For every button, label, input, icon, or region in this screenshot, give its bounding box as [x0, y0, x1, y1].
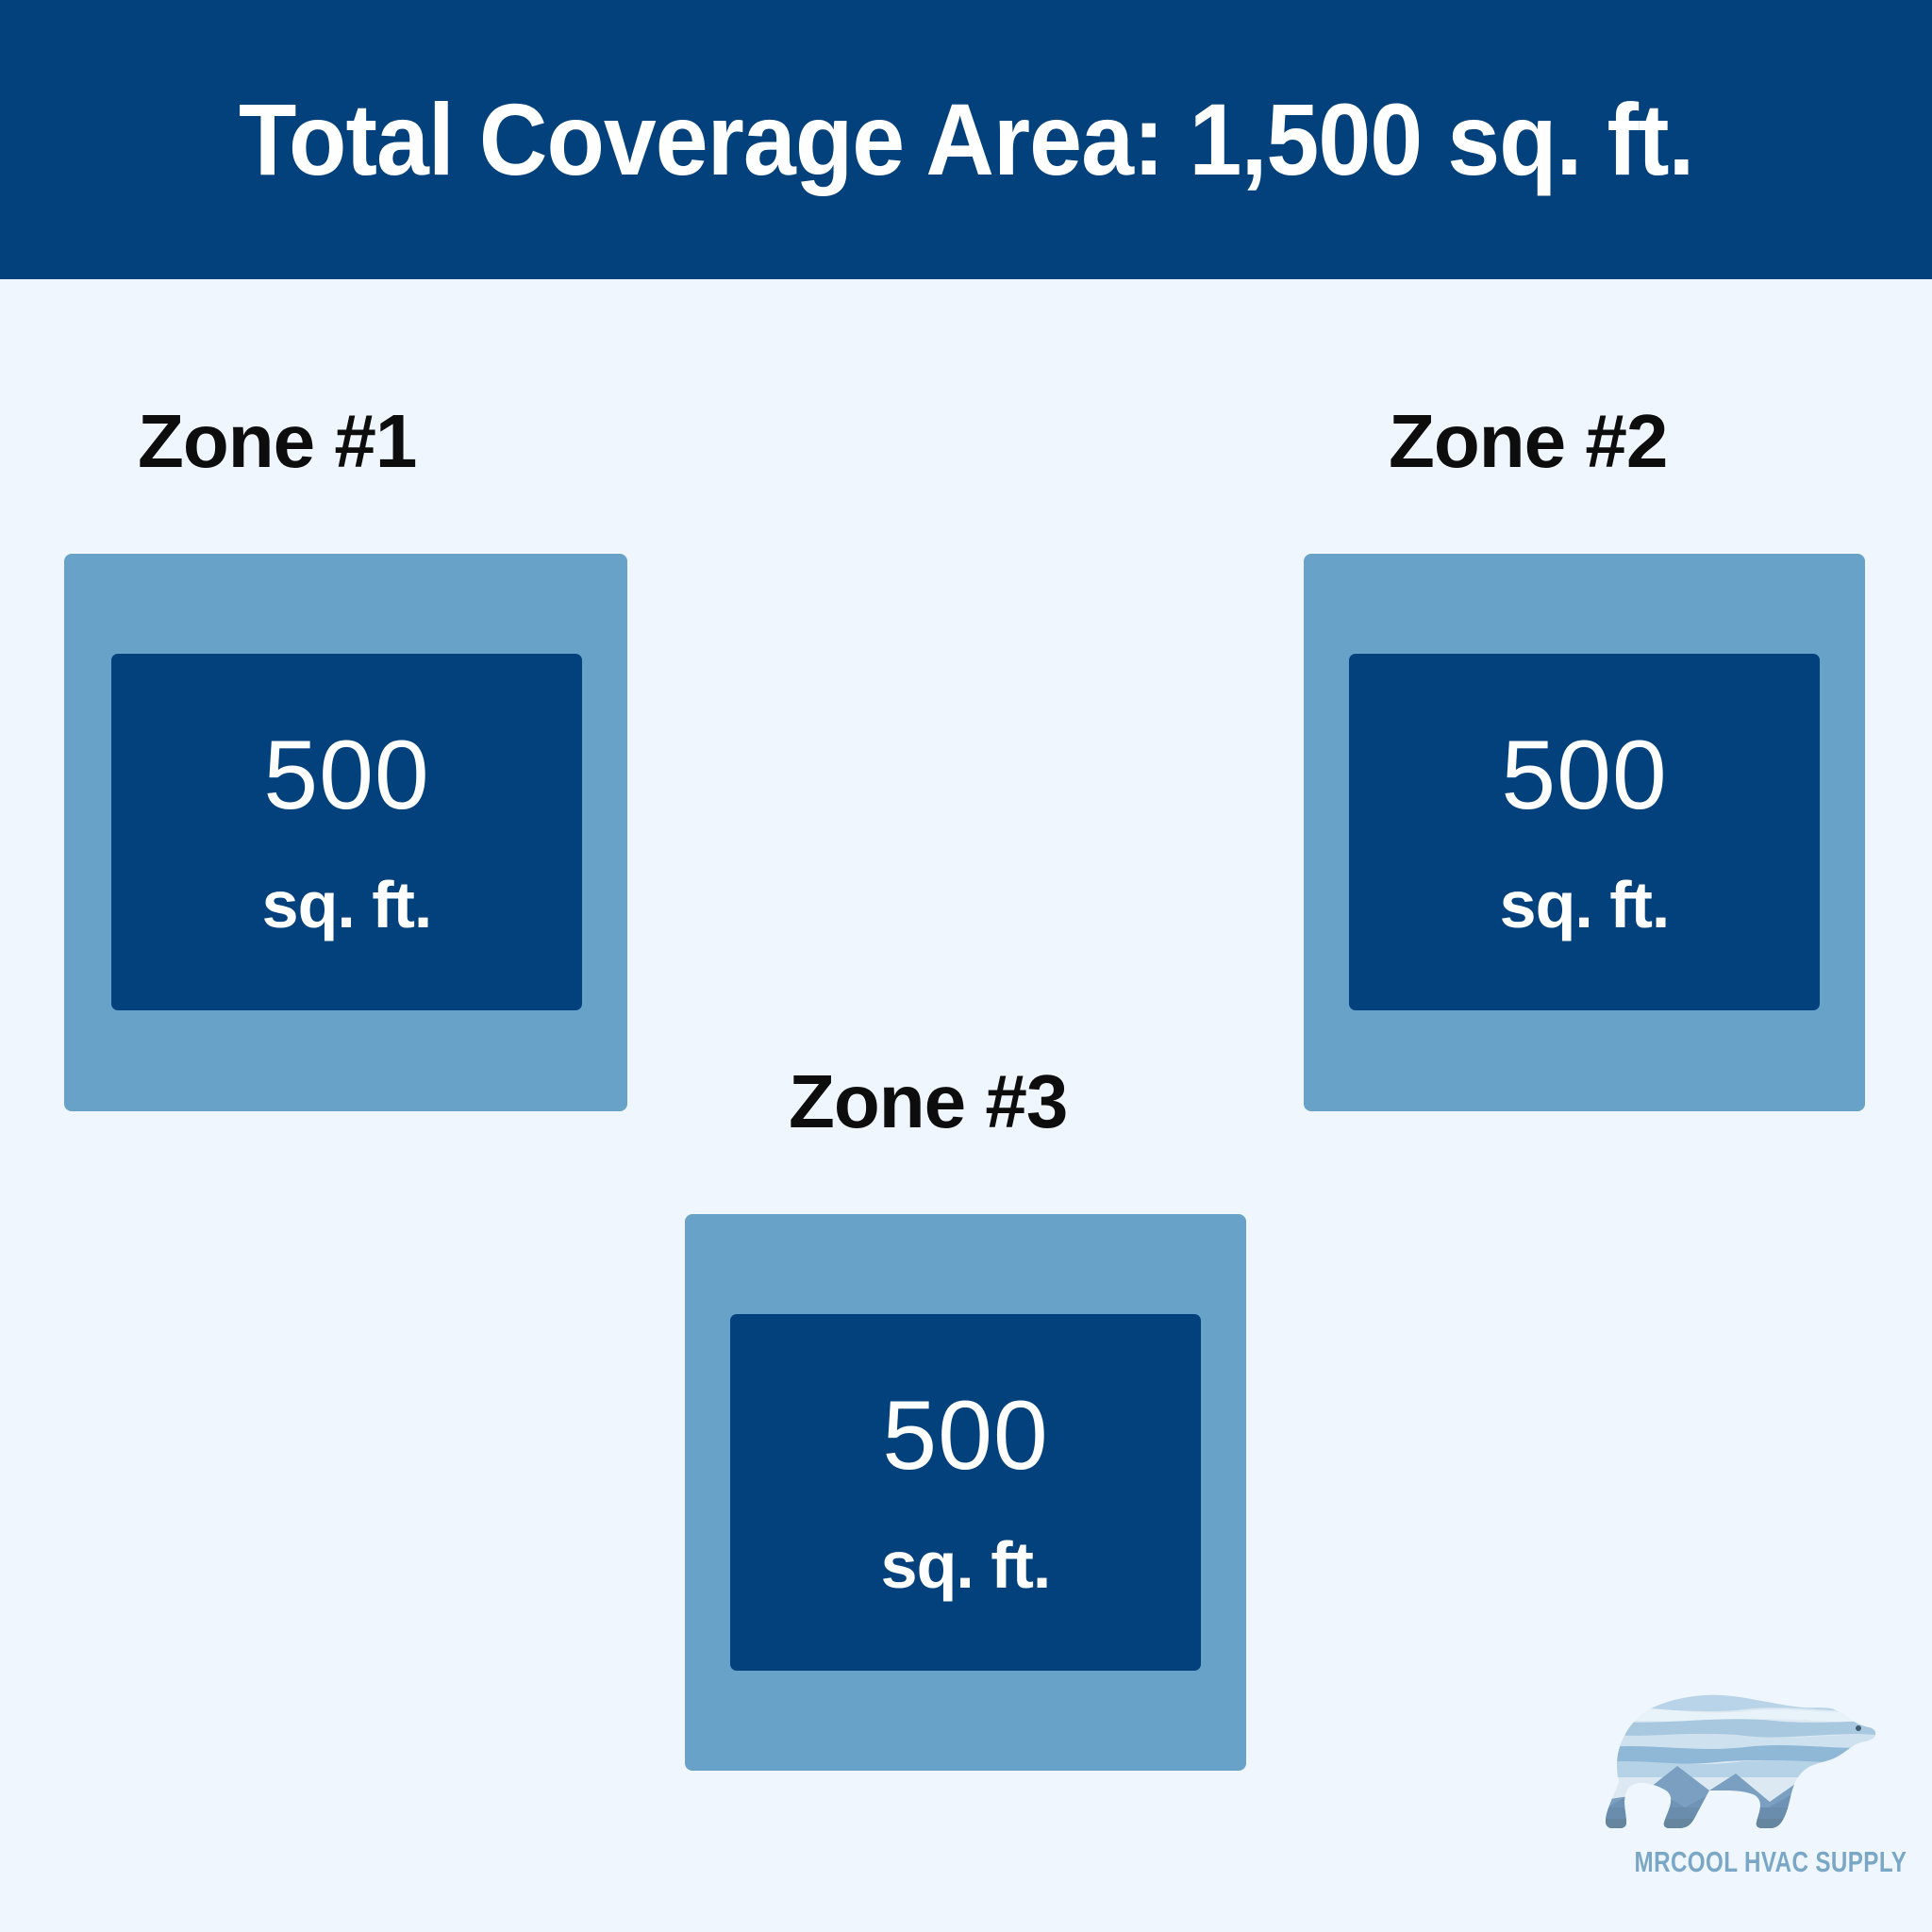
- bear-landscape-fill: [1604, 1668, 1883, 1847]
- logo-wordmark: MRCOOL HVAC SUPPLY: [1635, 1847, 1853, 1876]
- zone-1-value: 500: [263, 726, 430, 824]
- polar-bear-icon: [1604, 1668, 1883, 1847]
- page-title: Total Coverage Area: 1,500 sq. ft.: [239, 89, 1693, 191]
- zone-3-value: 500: [882, 1387, 1049, 1485]
- brand-logo: MRCOOL HVAC SUPPLY: [1604, 1668, 1883, 1902]
- zone-1-outer-area: 500 sq. ft.: [64, 554, 627, 1111]
- zone-group-3: Zone #3 500 sq. ft.: [685, 1038, 1251, 1783]
- zone-2-outer-area: 500 sq. ft.: [1304, 554, 1865, 1111]
- zone-3-inner-area: 500 sq. ft.: [730, 1314, 1201, 1671]
- zone-2-label: Zone #2: [1389, 404, 1667, 479]
- zone-2-unit: sq. ft.: [1500, 872, 1670, 938]
- zone-1-inner-area: 500 sq. ft.: [111, 654, 582, 1010]
- zone-1-label: Zone #1: [138, 404, 416, 479]
- infographic-canvas: Total Coverage Area: 1,500 sq. ft. Zone …: [0, 0, 1932, 1932]
- zone-3-unit: sq. ft.: [881, 1532, 1051, 1598]
- zone-group-2: Zone #2 500 sq. ft.: [1304, 377, 1870, 1123]
- zone-1-unit: sq. ft.: [262, 872, 432, 938]
- zone-3-outer-area: 500 sq. ft.: [685, 1214, 1246, 1771]
- zone-group-1: Zone #1 500 sq. ft.: [64, 377, 630, 1123]
- header-band: Total Coverage Area: 1,500 sq. ft.: [0, 0, 1932, 279]
- zone-2-value: 500: [1501, 726, 1668, 824]
- zone-2-inner-area: 500 sq. ft.: [1349, 654, 1820, 1010]
- bear-eye-icon: [1856, 1725, 1861, 1731]
- zone-3-label: Zone #3: [789, 1064, 1067, 1140]
